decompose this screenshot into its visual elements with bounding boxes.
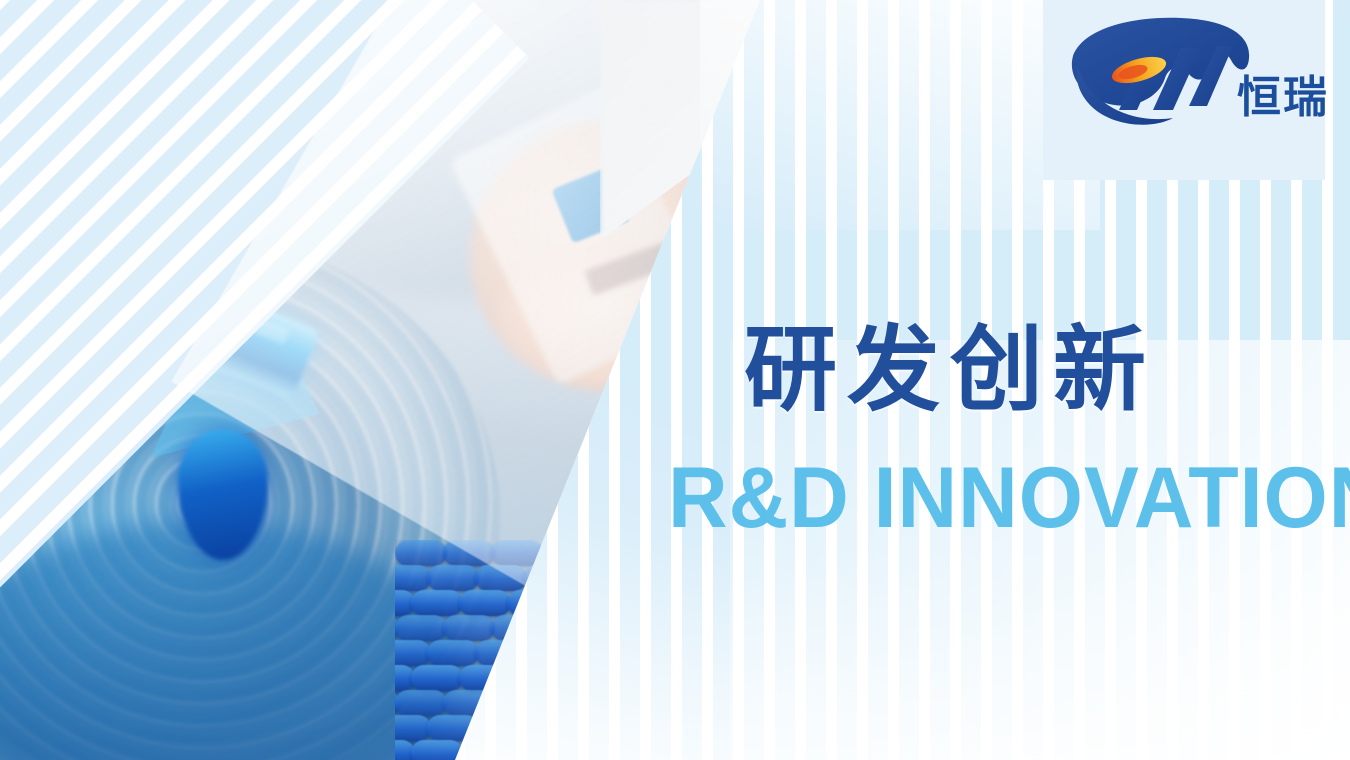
logo-company-name: 恒瑞 <box>1237 76 1329 120</box>
hengrui-logo: 恒瑞 <box>1061 14 1311 144</box>
capsule <box>427 565 479 591</box>
page-title: 研发创新 <box>744 324 1156 417</box>
capsule <box>395 565 431 591</box>
capsule <box>395 540 447 566</box>
capsule <box>427 640 479 666</box>
capsule <box>395 615 447 641</box>
capsule <box>411 590 463 616</box>
top-fade <box>700 0 1100 230</box>
capsule <box>443 615 495 641</box>
capsule <box>443 540 495 566</box>
rd-innovation-banner: 研发创新 R&D INNOVATION <box>0 0 1350 760</box>
capsule <box>395 640 431 666</box>
page-subtitle: R&D INNOVATION <box>668 455 1350 541</box>
capsule <box>395 715 431 741</box>
capsule <box>395 690 447 716</box>
capsule <box>411 740 463 760</box>
logo-badge: 恒瑞 <box>1043 0 1325 180</box>
capsule <box>411 665 463 691</box>
capsule <box>475 565 527 591</box>
capsule <box>459 590 511 616</box>
